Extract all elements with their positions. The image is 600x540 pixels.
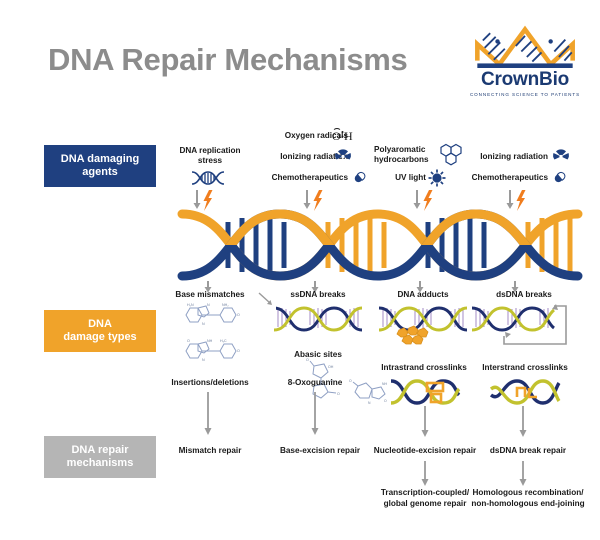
svg-text:O: O bbox=[349, 379, 352, 383]
dna-double-helix-graphic bbox=[180, 206, 580, 284]
break-pointer-arrow-icon bbox=[258, 292, 274, 306]
repair-sub-line2: non-homologous end-joining bbox=[462, 499, 594, 510]
down-arrow-icon bbox=[518, 406, 528, 438]
nucleobase-structures-icon: H₂NNN NH₂O ONHN H₃CO bbox=[176, 302, 248, 374]
down-arrow-icon bbox=[420, 406, 430, 438]
svg-text:O: O bbox=[187, 339, 190, 343]
damage-type-intrastrand-crosslinks-label: Intrastrand crosslinks bbox=[368, 363, 480, 374]
svg-text:O: O bbox=[332, 129, 341, 143]
svg-text:O: O bbox=[306, 358, 309, 362]
radiation-icon bbox=[552, 150, 570, 164]
agent-chemotherapeutics-2: Chemotherapeutics bbox=[455, 173, 548, 183]
svg-text:O: O bbox=[237, 313, 240, 317]
radiation-icon bbox=[334, 150, 352, 164]
agent-label: UV light bbox=[395, 173, 426, 183]
svg-text:NH: NH bbox=[207, 339, 213, 343]
svg-text:NH₂: NH₂ bbox=[222, 303, 229, 307]
damage-type-ssdna-breaks-label: ssDNA breaks bbox=[272, 290, 364, 301]
agent-label-line1: Polyaromatic bbox=[374, 145, 436, 155]
svg-text:O: O bbox=[237, 349, 240, 353]
agent-label: Chemotherapeutics bbox=[472, 173, 548, 183]
section-label-line1: DNA bbox=[48, 318, 152, 331]
repair-sub-homologous-recombination: Homologous recombination/ non-homologous… bbox=[462, 488, 594, 509]
repair-mismatch-repair-label: Mismatch repair bbox=[160, 446, 260, 457]
page-title: DNA Repair Mechanisms bbox=[48, 42, 408, 78]
agent-label: Chemotherapeutics bbox=[272, 173, 348, 183]
logo-wordmark: CrownBio bbox=[463, 69, 587, 91]
agent-chemotherapeutics-1: Chemotherapeutics bbox=[255, 173, 348, 183]
intrastrand-crosslink-helix-icon bbox=[387, 375, 463, 409]
svg-text:N: N bbox=[368, 401, 371, 405]
section-label-line2: damage types bbox=[48, 331, 152, 344]
agent-uv-light: UV light bbox=[378, 173, 426, 183]
section-label-line2: agents bbox=[48, 166, 152, 179]
svg-text:O: O bbox=[337, 392, 340, 396]
section-label-line2: mechanisms bbox=[48, 457, 152, 470]
down-arrow-icon bbox=[310, 392, 320, 436]
crown-icon bbox=[465, 24, 585, 68]
agent-label-line1: DNA replication bbox=[178, 146, 242, 156]
agent-label-line2: stress bbox=[178, 156, 242, 166]
agent-ionizing-radiation-2: Ionizing radiation bbox=[463, 152, 548, 162]
repair-dsdna-break-repair-label: dsDNA break repair bbox=[470, 446, 586, 457]
sun-icon bbox=[428, 169, 446, 187]
svg-text:N: N bbox=[202, 322, 205, 326]
pill-capsule-icon bbox=[352, 170, 368, 185]
oxygen-radical-icon: O H bbox=[332, 128, 356, 143]
section-label-dna-damage-types: DNA damage types bbox=[44, 310, 156, 352]
svg-text:N: N bbox=[207, 303, 210, 307]
repair-sub-line1: Homologous recombination/ bbox=[462, 488, 594, 499]
agent-polyaromatic-hydrocarbons: Polyaromatic hydrocarbons bbox=[374, 145, 436, 165]
dna-adduct-helix-icon bbox=[375, 302, 471, 350]
down-arrow-icon bbox=[203, 392, 213, 436]
svg-text:N: N bbox=[202, 358, 205, 362]
oxoguanine-structure-icon: ONHNO bbox=[348, 378, 390, 412]
down-arrow-icon bbox=[518, 461, 528, 487]
damage-type-base-mismatches-label: Base mismatches bbox=[162, 290, 258, 301]
dsdna-break-helix-icon bbox=[468, 302, 578, 348]
svg-text:H: H bbox=[344, 129, 353, 143]
damage-type-abasic-sites-label: Abasic sites bbox=[277, 350, 359, 361]
section-label-dna-damaging-agents: DNA damaging agents bbox=[44, 145, 156, 187]
interstrand-crosslink-helix-icon bbox=[487, 375, 563, 409]
section-label-dna-repair-mechanisms: DNA repair mechanisms bbox=[44, 436, 156, 478]
damage-type-insertions-deletions-label: Insertions/deletions bbox=[158, 378, 262, 389]
logo-tagline: CONNECTING SCIENCE TO PATIENTS bbox=[463, 92, 587, 97]
dna-helix-icon bbox=[190, 170, 230, 186]
agent-label: Ionizing radiation bbox=[480, 152, 548, 162]
svg-text:H₂N: H₂N bbox=[187, 303, 194, 307]
damage-type-interstrand-crosslinks-label: Interstrand crosslinks bbox=[469, 363, 581, 374]
section-label-line1: DNA repair bbox=[48, 444, 152, 457]
down-arrow-icon bbox=[420, 461, 430, 487]
agent-label-line2: hydrocarbons bbox=[374, 155, 436, 165]
damage-type-dna-adducts-label: DNA adducts bbox=[381, 290, 465, 301]
section-label-line1: DNA damaging bbox=[48, 153, 152, 166]
pill-capsule-icon bbox=[552, 170, 568, 185]
ssdna-break-helix-icon bbox=[270, 302, 366, 336]
damage-type-dsdna-breaks-label: dsDNA breaks bbox=[480, 290, 568, 301]
svg-text:OH: OH bbox=[328, 365, 334, 369]
agent-dna-replication-stress: DNA replication stress bbox=[178, 146, 242, 166]
benzene-rings-icon bbox=[437, 143, 465, 167]
crownbio-logo: CrownBio CONNECTING SCIENCE TO PATIENTS bbox=[463, 24, 587, 97]
svg-text:H₃C: H₃C bbox=[220, 339, 227, 343]
